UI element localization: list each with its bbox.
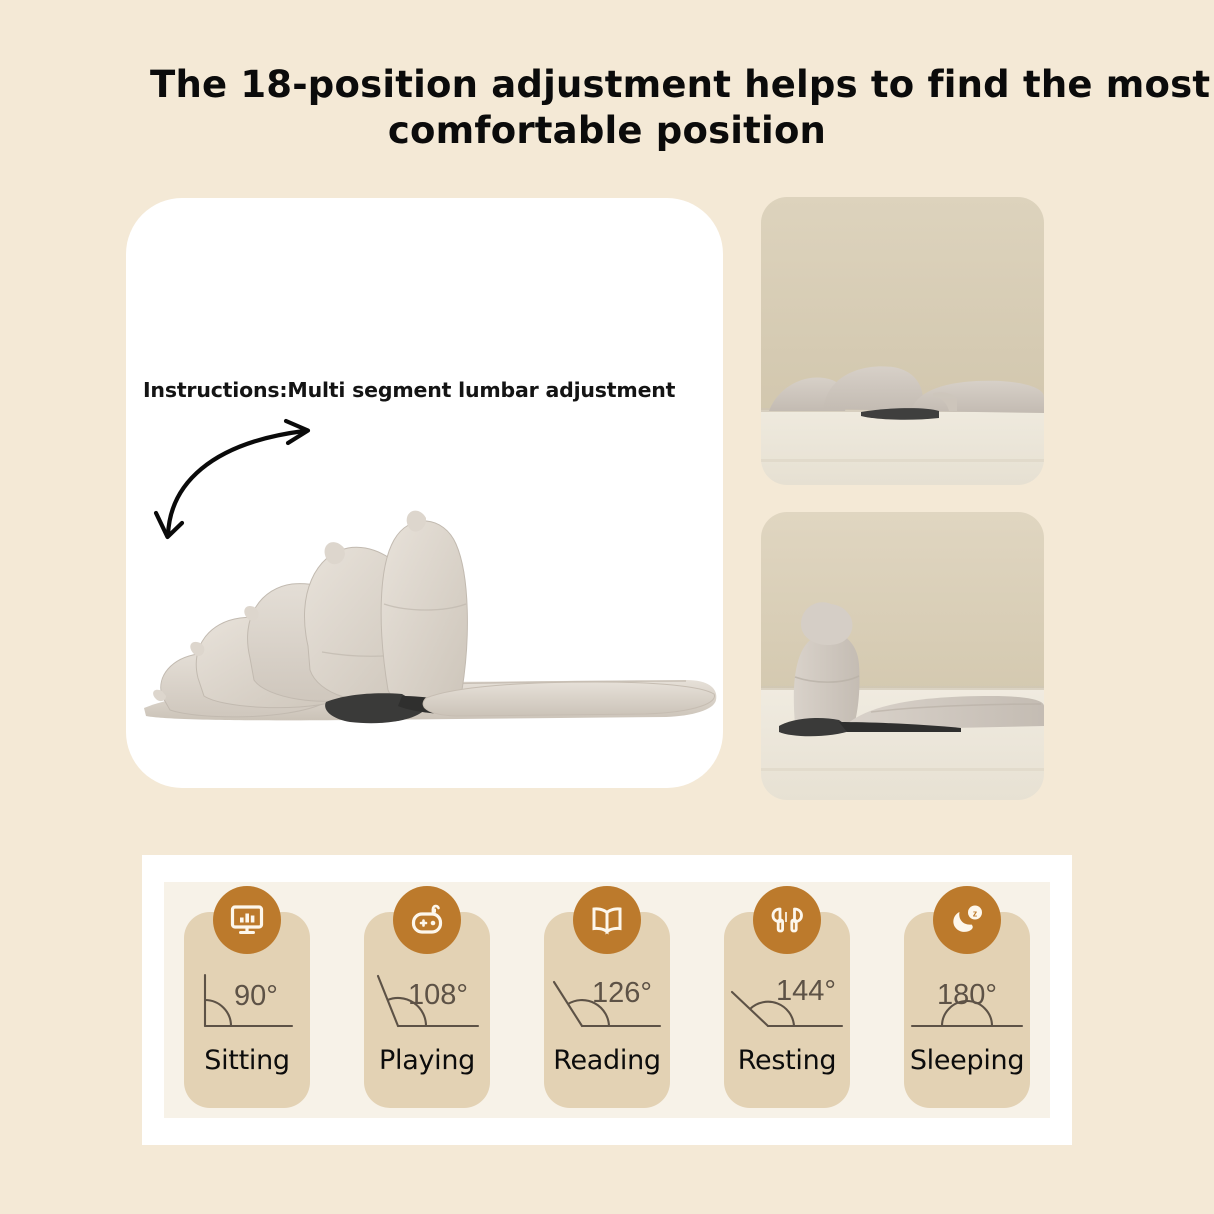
angle-value: 144° [776, 975, 836, 1007]
angle-value: 126° [592, 977, 652, 1009]
photo-flat-position-image [761, 197, 1044, 485]
earbuds-icon [753, 886, 821, 954]
main-product-card: Instructions:Multi segment lumbar adjust… [126, 198, 723, 788]
angle-diagram-144: 144° [728, 970, 846, 1036]
position-label: Sleeping [910, 1044, 1024, 1078]
position-label: Sitting [204, 1044, 289, 1078]
moon-sleep-icon: z [933, 886, 1001, 954]
angle-diagram-108: 108° [368, 970, 486, 1036]
position-tile-playing[interactable]: 108° Playing [354, 882, 500, 1112]
positions-row: 90° Sitting [164, 882, 1050, 1118]
page-title: The 18-position adjustment helps to find… [0, 62, 1214, 154]
monitor-chart-icon [213, 886, 281, 954]
photo-upright-position-image [761, 512, 1044, 800]
page-title-line-2: comfortable position [150, 108, 1064, 154]
angle-value: 108° [408, 979, 468, 1011]
svg-text:z: z [973, 909, 978, 919]
angle-diagram-126: 126° [548, 970, 666, 1036]
position-tile-sleeping[interactable]: z 180° Sleeping [894, 882, 1040, 1112]
photo-upright-position [761, 512, 1044, 800]
positions-panel: 90° Sitting [142, 855, 1072, 1145]
position-tile-resting[interactable]: 144° Resting [714, 882, 860, 1112]
game-controller-icon [393, 886, 461, 954]
angle-diagram-90: 90° [188, 970, 306, 1036]
angle-value: 180° [937, 979, 997, 1011]
instructions-label: Instructions:Multi segment lumbar adjust… [143, 378, 675, 402]
open-book-icon [573, 886, 641, 954]
position-tile-sitting[interactable]: 90° Sitting [174, 882, 320, 1112]
angle-diagram-180: 180° [908, 970, 1026, 1036]
position-label: Playing [379, 1044, 475, 1078]
position-label: Reading [553, 1044, 661, 1078]
page-title-line-1: The 18-position adjustment helps to find… [150, 62, 1064, 108]
photo-flat-position [761, 197, 1044, 485]
position-label: Resting [738, 1044, 836, 1078]
angle-value: 90° [234, 980, 278, 1012]
position-tile-reading[interactable]: 126° Reading [534, 882, 680, 1112]
product-illustration [126, 408, 723, 788]
